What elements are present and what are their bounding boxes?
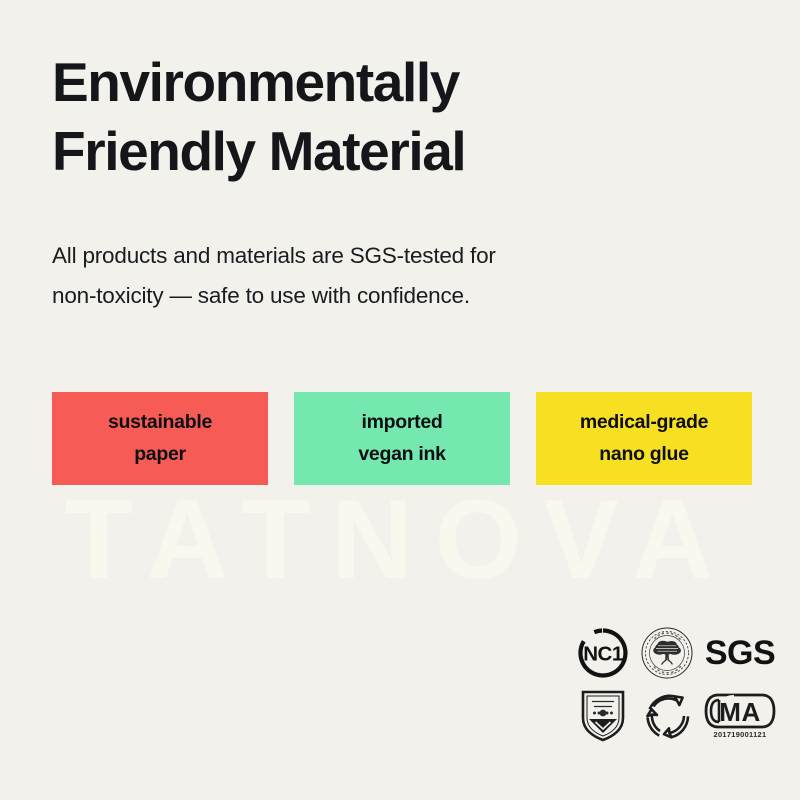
certification-badge-tree-seal [634,622,700,684]
material-tag-sustainable-paper: sustainable paper [52,392,268,485]
nc1-circle-icon: NC1 [577,627,629,679]
sgs-wordmark-icon: SGS [705,636,775,670]
brand-watermark: TATNOVA [0,484,800,596]
page-subtitle-line-1: All products and materials are SGS-teste… [52,236,652,276]
material-tag-row: sustainable paper imported vegan ink med… [52,392,752,485]
svg-text:NC1: NC1 [583,643,623,666]
certification-badge-cma: MA 201719001121 [700,684,780,746]
material-tag-vegan-ink: imported vegan ink [294,392,510,485]
svg-text:MA: MA [719,697,760,727]
certification-badge-recycling [634,684,700,746]
cma-mark-icon: MA [704,692,776,730]
page-subtitle-line-2: non-toxicity — safe to use with confiden… [52,276,652,316]
certification-badge-nc1: NC1 [572,622,634,684]
page-subtitle: All products and materials are SGS-teste… [52,236,652,316]
material-tag-line-2: nano glue [599,439,688,471]
material-tag-line-2: paper [134,439,186,471]
page-title: Environmentally Friendly Material [52,48,692,187]
certification-badge-grid: NC1 [572,622,780,746]
tree-seal-icon [640,626,694,680]
material-tag-line-1: imported [361,407,442,439]
certification-badge-shield [572,684,634,746]
material-tag-line-1: medical-grade [580,407,708,439]
page-title-line-1: Environmentally [52,48,692,117]
certification-badge-sgs: SGS [700,622,780,684]
shield-badge-icon [580,688,626,742]
material-tag-line-2: vegan ink [358,439,445,471]
page-title-line-2: Friendly Material [52,117,692,186]
poster-canvas: TATNOVA Environmentally Friendly Materia… [0,0,800,800]
material-tag-line-1: sustainable [108,407,212,439]
recycling-arrows-icon [641,689,693,741]
material-tag-nano-glue: medical-grade nano glue [536,392,752,485]
cma-certificate-number: 201719001121 [714,732,767,739]
